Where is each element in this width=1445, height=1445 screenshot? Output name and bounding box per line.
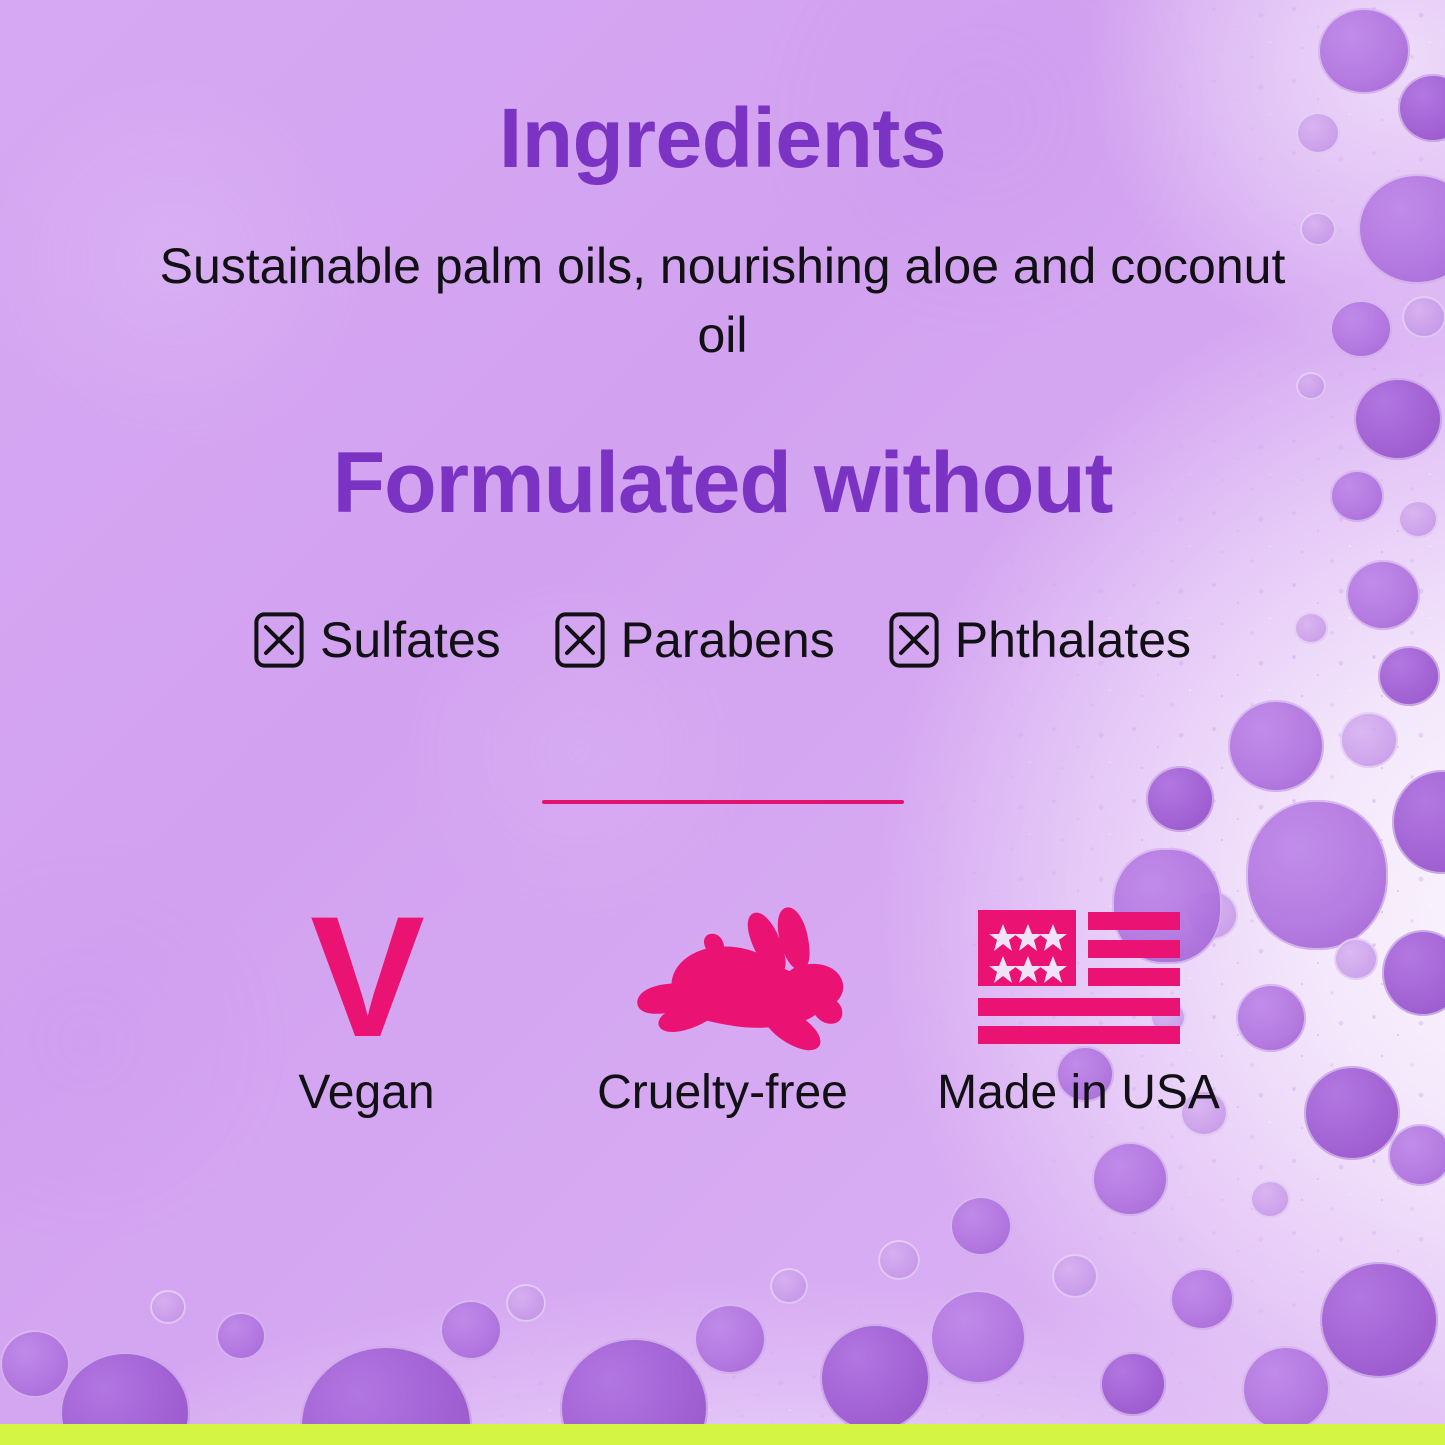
x-checkbox-icon (555, 612, 605, 668)
usa-flag-icon (978, 910, 1180, 1046)
free-from-item-parabens: Parabens (555, 612, 835, 668)
badges-row: V Vegan (0, 900, 1445, 1117)
free-from-label: Phthalates (955, 615, 1191, 665)
rabbit-icon (598, 902, 848, 1054)
section-divider (542, 800, 904, 804)
x-checkbox-icon (889, 612, 939, 668)
formulated-without-heading: Formulated without (0, 440, 1445, 526)
free-from-label: Parabens (621, 615, 835, 665)
bottom-accent-bar (0, 1424, 1445, 1445)
badge-label: Made in USA (937, 1069, 1220, 1117)
badge-label: Cruelty-free (597, 1069, 848, 1117)
ingredients-heading: Ingredients (0, 96, 1445, 180)
vegan-v-glyph: V (310, 907, 423, 1048)
ingredients-description: Sustainable palm oils, nourishing aloe a… (0, 232, 1445, 370)
vegan-v-icon: V (310, 900, 423, 1055)
badge-cruelty-free: Cruelty-free (589, 900, 857, 1117)
free-from-item-sulfates: Sulfates (254, 612, 501, 668)
badge-label: Vegan (298, 1069, 434, 1117)
rabbit-icon-wrap (598, 900, 848, 1055)
free-from-item-phthalates: Phthalates (889, 612, 1191, 668)
formulated-without-list: Sulfates Parabens Phthalates (0, 612, 1445, 668)
badge-vegan: V Vegan (233, 900, 501, 1117)
x-checkbox-icon (254, 612, 304, 668)
usa-flag-icon-wrap (978, 900, 1180, 1055)
infographic-content: Ingredients Sustainable palm oils, nouri… (0, 0, 1445, 1445)
ingredients-infographic: Ingredients Sustainable palm oils, nouri… (0, 0, 1445, 1445)
badge-made-in-usa: Made in USA (945, 900, 1213, 1117)
free-from-label: Sulfates (320, 615, 501, 665)
